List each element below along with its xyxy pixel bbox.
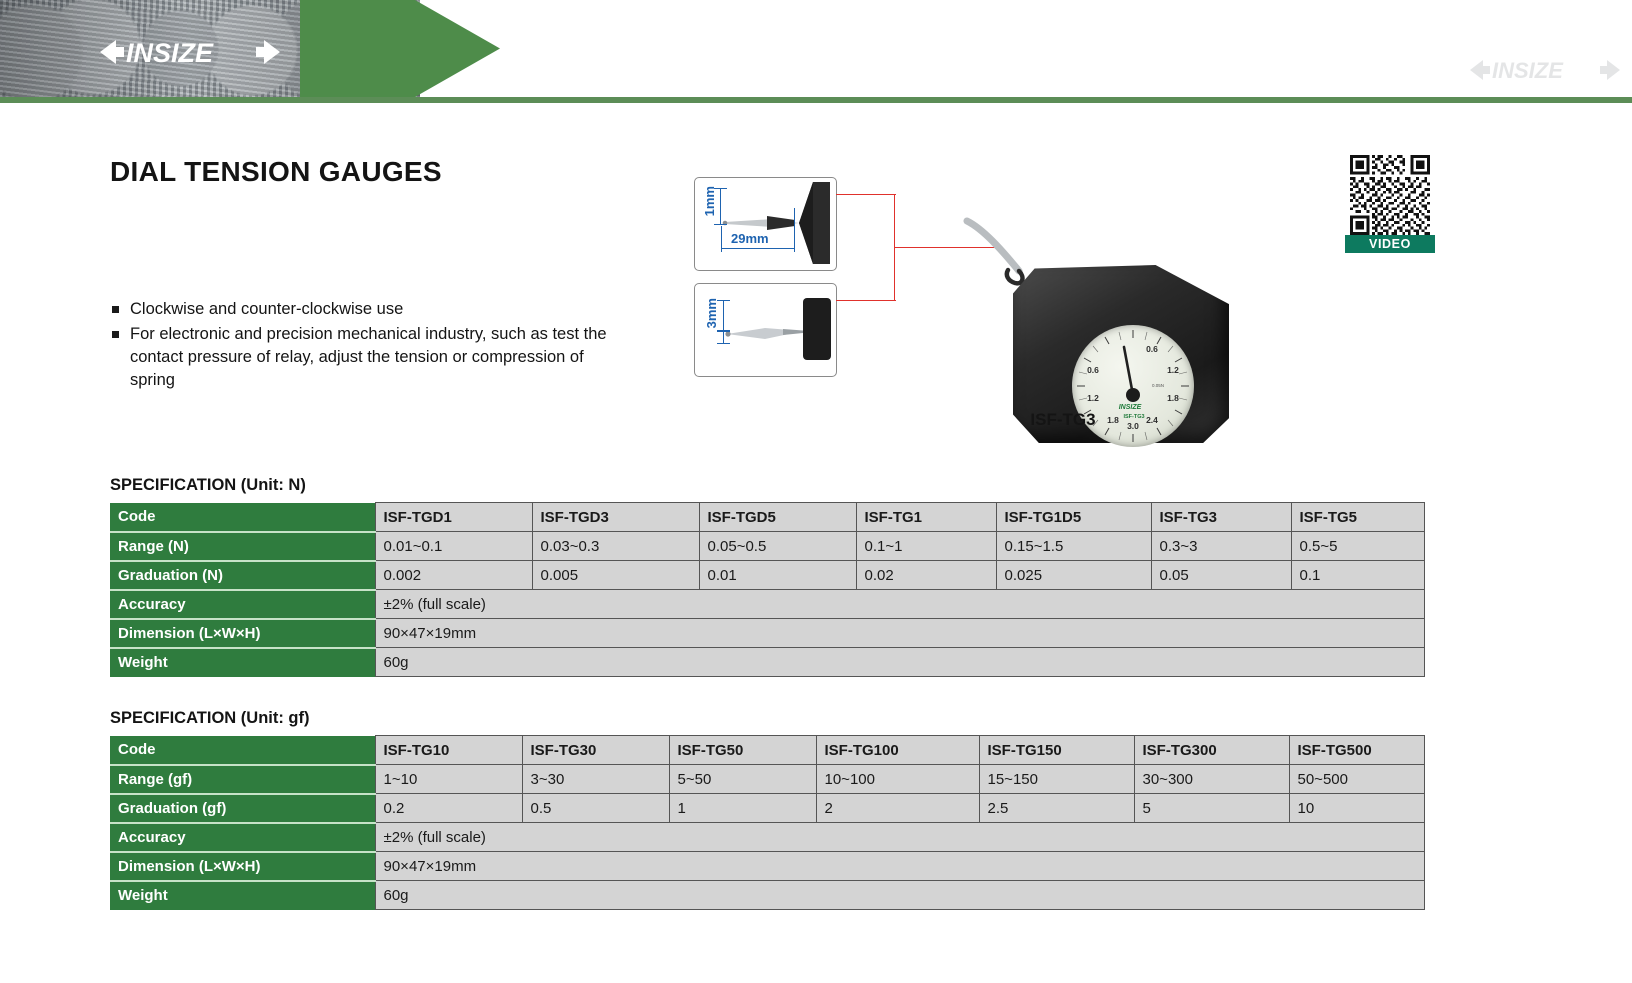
table-row: Accuracy±2% (full scale) bbox=[110, 823, 1424, 852]
dimension-line-horizontal bbox=[721, 248, 795, 249]
table-column-header: ISF-TG1D5 bbox=[996, 503, 1151, 532]
table-cell: 0.05 bbox=[1151, 561, 1291, 590]
table-row-header: Range (gf) bbox=[110, 765, 375, 794]
page-title: DIAL TENSION GAUGES bbox=[110, 156, 442, 188]
table-cell: 0.5~5 bbox=[1291, 532, 1424, 561]
table-cell: 15~150 bbox=[979, 765, 1134, 794]
bullet-text: For electronic and precision mechanical … bbox=[130, 323, 632, 392]
table-cell-merged: 60g bbox=[375, 648, 1424, 677]
video-badge-label[interactable]: VIDEO bbox=[1345, 235, 1435, 253]
dimension-arrow-tick bbox=[717, 343, 730, 344]
table-row-header: Dimension (L×W×H) bbox=[110, 852, 375, 881]
table-cell-merged: ±2% (full scale) bbox=[375, 823, 1424, 852]
table-row-header: Accuracy bbox=[110, 823, 375, 852]
svg-text:0.05N: 0.05N bbox=[1152, 383, 1164, 388]
table-column-header: ISF-TG150 bbox=[979, 736, 1134, 765]
table-row: Dimension (L×W×H)90×47×19mm bbox=[110, 619, 1424, 648]
table-column-header: ISF-TGD3 bbox=[532, 503, 699, 532]
table-cell-merged: 60g bbox=[375, 881, 1424, 910]
svg-text:INSIZE: INSIZE bbox=[126, 38, 214, 68]
table-cell-merged: 90×47×19mm bbox=[375, 852, 1424, 881]
header-green-chevron bbox=[300, 0, 500, 97]
dimension-extension-line bbox=[721, 226, 722, 252]
dimension-bracket bbox=[717, 330, 730, 332]
table-cell: 3~30 bbox=[522, 765, 669, 794]
table-row: Dimension (L×W×H)90×47×19mm bbox=[110, 852, 1424, 881]
table-cell: 0.05~0.5 bbox=[699, 532, 856, 561]
table-cell: 0.025 bbox=[996, 561, 1151, 590]
svg-text:1.8: 1.8 bbox=[1167, 393, 1179, 403]
table-cell-merged: 90×47×19mm bbox=[375, 619, 1424, 648]
table-cell: 0.03~0.3 bbox=[532, 532, 699, 561]
dimension-arrow-tick bbox=[717, 300, 730, 301]
spec-heading-newton: SPECIFICATION (Unit: N) bbox=[110, 476, 306, 495]
table-cell: 0.01 bbox=[699, 561, 856, 590]
dimension-label-3mm: 3mm bbox=[704, 298, 719, 328]
table-cell: 0.002 bbox=[375, 561, 532, 590]
table-row: Range (gf)1~103~305~5010~10015~15030~300… bbox=[110, 765, 1424, 794]
table-row-header: Weight bbox=[110, 881, 375, 910]
table-column-header: ISF-TG50 bbox=[669, 736, 816, 765]
table-cell: 1~10 bbox=[375, 765, 522, 794]
table-row: Weight60g bbox=[110, 648, 1424, 677]
product-model-label: ISF-TG3 bbox=[913, 410, 1213, 430]
spec-table-gramforce: CodeISF-TG10ISF-TG30ISF-TG50ISF-TG100ISF… bbox=[110, 735, 1425, 910]
table-row-header: Accuracy bbox=[110, 590, 375, 619]
table-row: Range (N)0.01~0.10.03~0.30.05~0.50.1~10.… bbox=[110, 532, 1424, 561]
bullet-text: Clockwise and counter-clockwise use bbox=[130, 298, 403, 321]
header-green-rule bbox=[0, 97, 1632, 103]
dimension-label-29mm: 29mm bbox=[731, 231, 769, 246]
insize-logo: INSIZE bbox=[100, 34, 280, 70]
table-cell: 0.1 bbox=[1291, 561, 1424, 590]
bullet-square-icon bbox=[112, 306, 119, 313]
svg-text:0.6: 0.6 bbox=[1146, 344, 1158, 354]
table-cell: 1 bbox=[669, 794, 816, 823]
table-row: Weight60g bbox=[110, 881, 1424, 910]
table-column-header: ISF-TG100 bbox=[816, 736, 979, 765]
table-cell: 0.01~0.1 bbox=[375, 532, 532, 561]
page-header: INSIZE INSIZE bbox=[0, 0, 1632, 103]
table-row: CodeISF-TGD1ISF-TGD3ISF-TGD5ISF-TG1ISF-T… bbox=[110, 503, 1424, 532]
list-item: Clockwise and counter-clockwise use bbox=[112, 298, 632, 321]
table-column-header: ISF-TGD5 bbox=[699, 503, 856, 532]
svg-text:0.6: 0.6 bbox=[1087, 365, 1099, 375]
table-row-header: Code bbox=[110, 736, 375, 765]
table-cell: 0.005 bbox=[532, 561, 699, 590]
table-column-header: ISF-TG3 bbox=[1151, 503, 1291, 532]
table-row: Graduation (gf)0.20.5122.5510 bbox=[110, 794, 1424, 823]
table-row-header: Code bbox=[110, 503, 375, 532]
table-column-header: ISF-TG10 bbox=[375, 736, 522, 765]
detail-callout-box-tip-bottom: 3mm bbox=[694, 283, 837, 377]
dimension-label-1mm: 1mm bbox=[702, 186, 717, 216]
svg-text:INSIZE: INSIZE bbox=[1492, 58, 1564, 83]
table-cell: 0.02 bbox=[856, 561, 996, 590]
bullet-square-icon bbox=[112, 331, 119, 338]
table-cell: 5 bbox=[1134, 794, 1289, 823]
dimension-line-vertical bbox=[720, 189, 721, 224]
table-column-header: ISF-TGD1 bbox=[375, 503, 532, 532]
table-cell: 10 bbox=[1289, 794, 1424, 823]
table-row-header: Weight bbox=[110, 648, 375, 677]
detail-callout-box-tip-top: 1mm 29mm bbox=[694, 177, 837, 271]
callout-leader-line-top bbox=[836, 194, 896, 195]
table-row: Graduation (N)0.0020.0050.010.020.0250.0… bbox=[110, 561, 1424, 590]
spec-heading-gramforce: SPECIFICATION (Unit: gf) bbox=[110, 709, 310, 728]
spec-table-newton: CodeISF-TGD1ISF-TGD3ISF-TGD5ISF-TG1ISF-T… bbox=[110, 502, 1425, 677]
table-cell: 5~50 bbox=[669, 765, 816, 794]
table-row: CodeISF-TG10ISF-TG30ISF-TG50ISF-TG100ISF… bbox=[110, 736, 1424, 765]
table-row-header: Range (N) bbox=[110, 532, 375, 561]
table-cell: 0.2 bbox=[375, 794, 522, 823]
table-cell: 30~300 bbox=[1134, 765, 1289, 794]
table-cell: 0.1~1 bbox=[856, 532, 996, 561]
qr-code-icon[interactable] bbox=[1345, 155, 1435, 235]
table-column-header: ISF-TG30 bbox=[522, 736, 669, 765]
dimension-line-vertical bbox=[723, 300, 724, 344]
table-row: Accuracy±2% (full scale) bbox=[110, 590, 1424, 619]
table-cell: 2 bbox=[816, 794, 979, 823]
insize-watermark-logo: INSIZE bbox=[1470, 55, 1620, 85]
svg-text:1.2: 1.2 bbox=[1167, 365, 1179, 375]
callout-leader-line-bottom bbox=[836, 300, 896, 301]
table-column-header: ISF-TG300 bbox=[1134, 736, 1289, 765]
table-cell: 0.5 bbox=[522, 794, 669, 823]
table-column-header: ISF-TG1 bbox=[856, 503, 996, 532]
svg-text:1.2: 1.2 bbox=[1087, 393, 1099, 403]
table-cell: 50~500 bbox=[1289, 765, 1424, 794]
video-qr-block[interactable]: VIDEO bbox=[1345, 155, 1435, 253]
list-item: For electronic and precision mechanical … bbox=[112, 323, 632, 392]
table-row-header: Dimension (L×W×H) bbox=[110, 619, 375, 648]
table-cell: 0.3~3 bbox=[1151, 532, 1291, 561]
table-row-header: Graduation (gf) bbox=[110, 794, 375, 823]
table-cell: 2.5 bbox=[979, 794, 1134, 823]
table-column-header: ISF-TG5 bbox=[1291, 503, 1424, 532]
table-cell: 0.15~1.5 bbox=[996, 532, 1151, 561]
table-column-header: ISF-TG500 bbox=[1289, 736, 1424, 765]
table-row-header: Graduation (N) bbox=[110, 561, 375, 590]
dimension-extension-line bbox=[794, 208, 795, 252]
feature-bullet-list: Clockwise and counter-clockwise use For … bbox=[112, 298, 632, 394]
table-cell-merged: ±2% (full scale) bbox=[375, 590, 1424, 619]
table-cell: 10~100 bbox=[816, 765, 979, 794]
dimension-arrow-tick bbox=[714, 188, 727, 189]
